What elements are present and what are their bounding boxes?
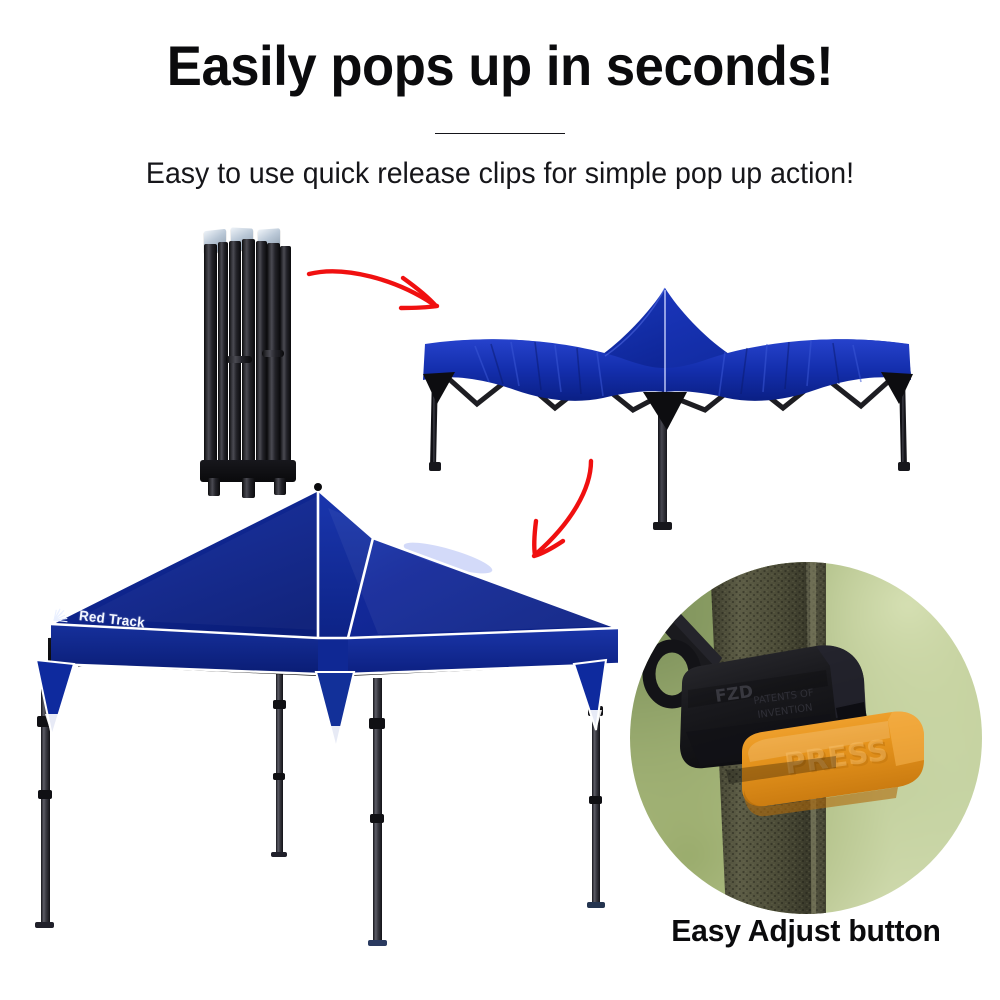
sunburst-icon	[52, 602, 76, 624]
page-subtitle: Easy to use quick release clips for simp…	[25, 155, 975, 193]
canopy-leg	[276, 666, 283, 856]
canopy-corner-tab	[423, 372, 455, 404]
frame-pole	[204, 244, 217, 468]
title-divider	[435, 133, 565, 134]
canopy-valance-front	[318, 638, 348, 674]
infographic-page: Easily pops up in seconds! Easy to use q…	[0, 0, 1000, 1000]
frame-joint	[262, 350, 284, 357]
page-title: Easily pops up in seconds!	[30, 36, 970, 96]
brand-name: Red Track	[78, 607, 145, 630]
fully-assembled-canopy	[18, 478, 643, 950]
canopy-peak-finial	[314, 483, 322, 491]
canopy-center-pole	[658, 412, 667, 530]
easy-adjust-button-photo: FZD PATENTS OF INVENTION PRESS PRESS	[630, 562, 982, 914]
frame-pole	[242, 239, 255, 471]
canopy-legs	[35, 666, 605, 946]
canopy-corner-tab	[881, 372, 913, 404]
frame-joint	[226, 356, 252, 363]
canopy-corner-tab	[643, 392, 687, 430]
inset-caption: Easy Adjust button	[635, 913, 976, 949]
folded-canopy-frame	[196, 228, 300, 478]
